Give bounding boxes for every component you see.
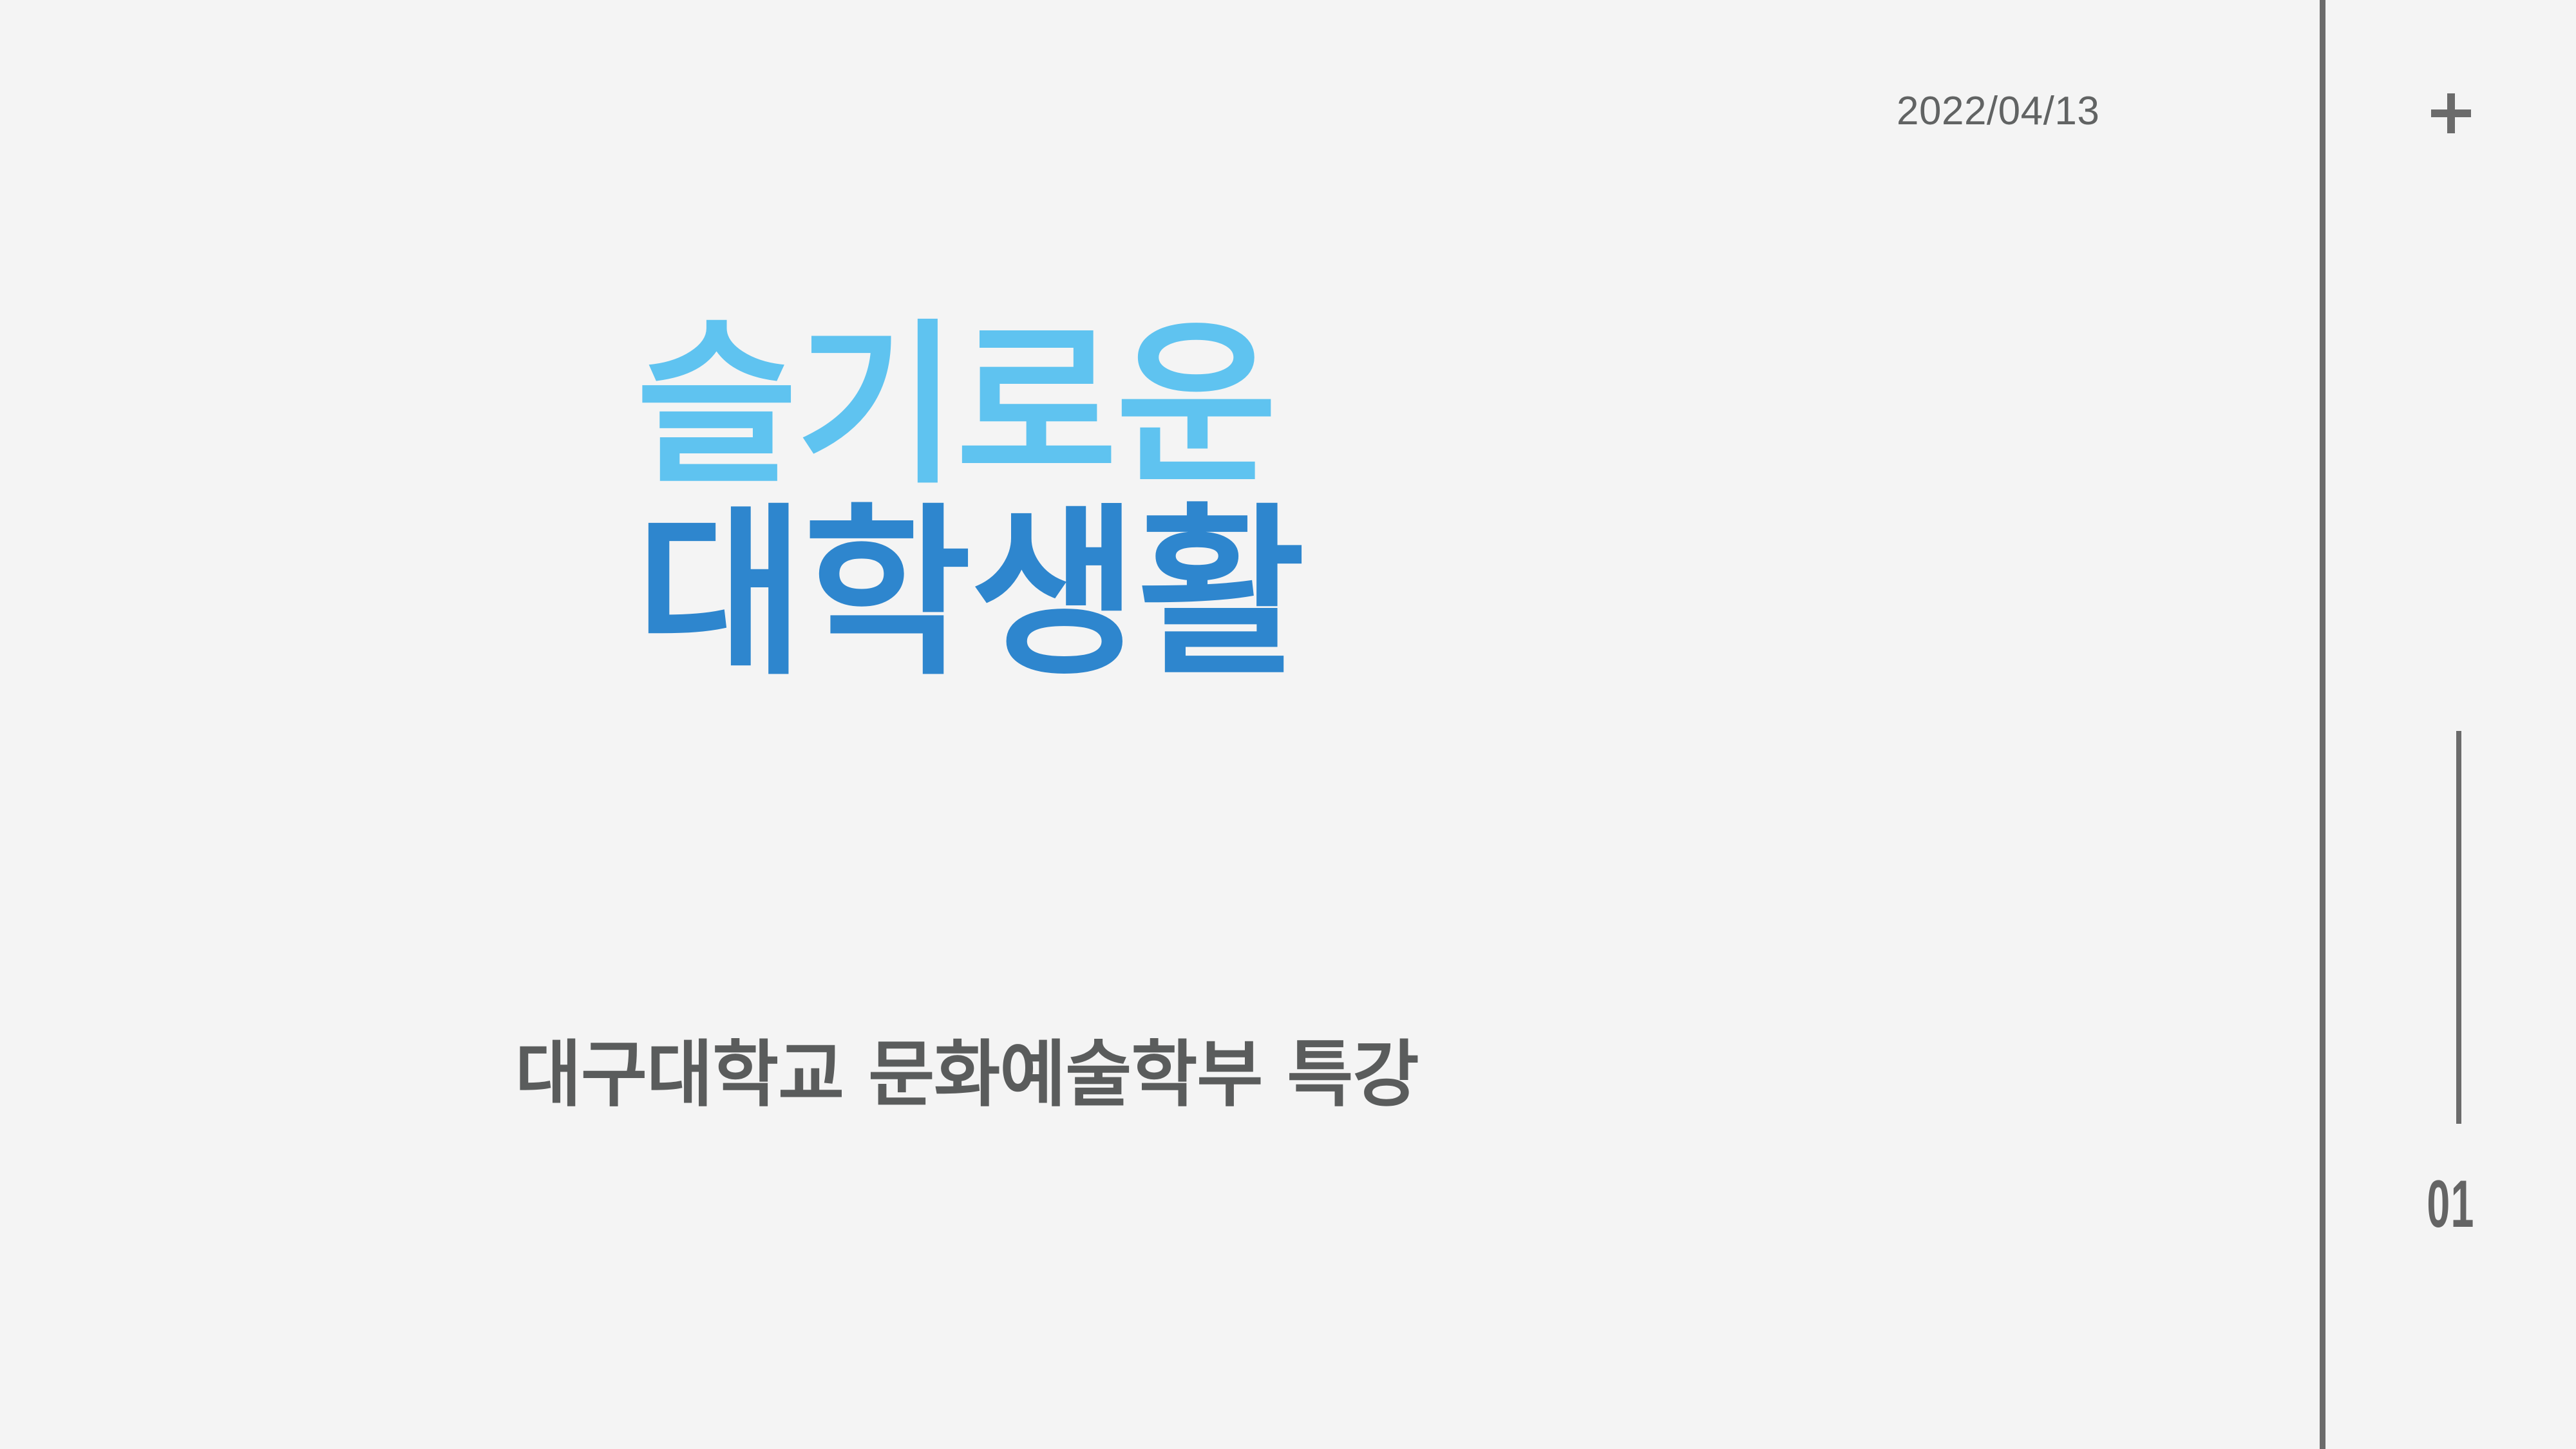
plus-icon [2325, 93, 2576, 171]
title-line-secondary: 대학생활 [636, 504, 1667, 683]
presentation-slide: 2022/04/13 슬기로운 대학생활 대구대학교 문화예술학부 특강 01 [0, 0, 2576, 1449]
slide-subtitle: 대구대학교 문화예술학부 특강 [515, 1036, 1419, 1115]
right-rail: 01 [2325, 0, 2576, 1449]
title-line-primary: 슬기로운 [636, 321, 1667, 493]
rail-divider [2320, 0, 2325, 1449]
title-block: 슬기로운 대학생활 [636, 321, 1667, 683]
slide-date: 2022/04/13 [1897, 91, 2099, 131]
slide-number: 01 [2373, 1171, 2528, 1238]
rail-tick-mark [2456, 731, 2461, 1124]
